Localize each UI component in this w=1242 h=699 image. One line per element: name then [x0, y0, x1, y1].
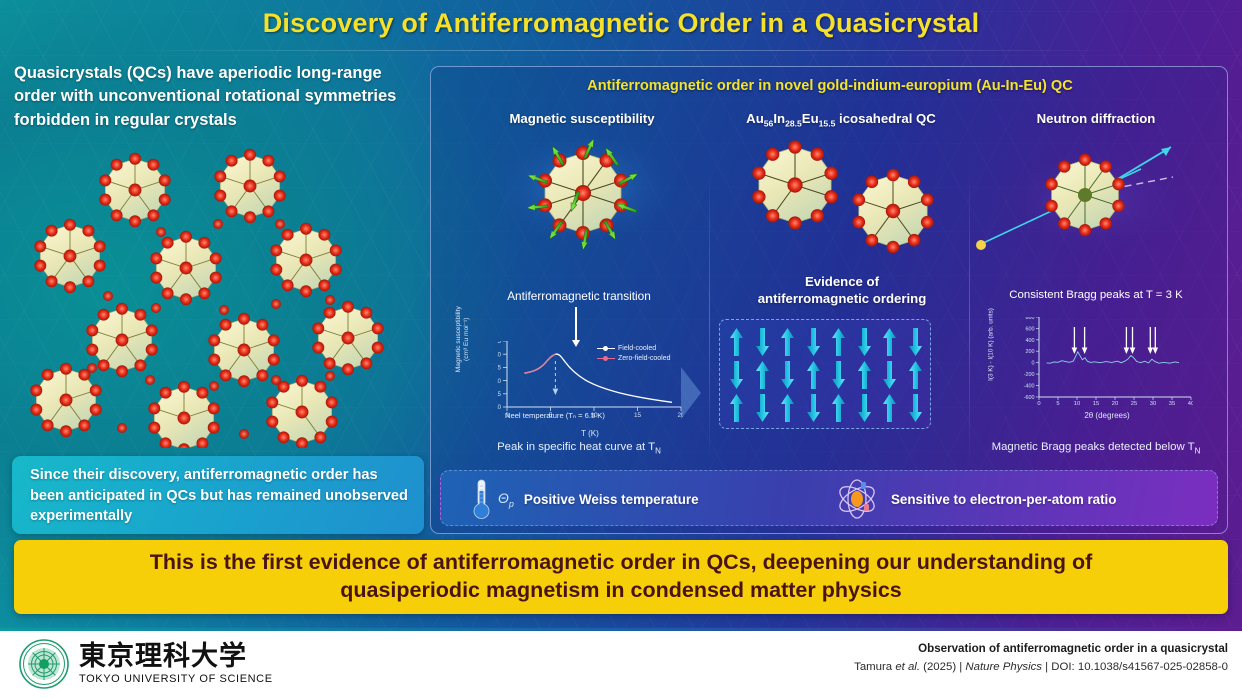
spin-arrow-up [903, 359, 929, 392]
university-name-en: TOKYO UNIVERSITY OF SCIENCE [79, 673, 273, 685]
spin-arrow-down [877, 359, 903, 392]
svg-text:600: 600 [1026, 326, 1035, 332]
spin-arrow-up [750, 359, 776, 392]
chart1-title: Antiferromagnetic transition [451, 289, 707, 303]
spin-arrow-down [801, 326, 827, 359]
svg-text:2.0: 2.0 [497, 352, 502, 358]
spin-arrow-up [877, 326, 903, 359]
legend-item-field-cooled: Field-cooled [597, 345, 671, 352]
svg-text:2.5: 2.5 [497, 341, 502, 345]
transition-arrow-icon [575, 307, 577, 341]
svg-text:0: 0 [1037, 401, 1040, 405]
callout-box: Since their discovery, antiferromagnetic… [12, 456, 424, 534]
svg-text:-400: -400 [1024, 384, 1035, 390]
svg-text:10: 10 [1074, 401, 1080, 405]
flow-chevron-icon [681, 367, 701, 419]
spin-arrow-up [775, 326, 801, 359]
formula-eu: Eu [802, 111, 819, 126]
thermometer-icon [469, 477, 495, 521]
chart2-caption: Magnetic Bragg peaks detected below TN [971, 441, 1221, 455]
spin-arrow-down [750, 391, 776, 424]
university-logo: 東京理科大学 TOKYO UNIVERSITY OF SCIENCE [18, 638, 273, 690]
chart1-y-axis-label: Magnetic susceptibility (cm³ Eu mol⁻¹) [455, 296, 471, 382]
formula-in: In [773, 111, 785, 126]
panel-divider-left [709, 167, 710, 467]
theta-p-symbol: Θp [498, 490, 514, 509]
university-name-jp: 東京理科大学 [79, 643, 273, 670]
svg-text:400: 400 [1026, 338, 1035, 344]
spin-arrow-down [852, 326, 878, 359]
citation-title: Observation of antiferromagnetic order i… [854, 642, 1228, 655]
atom-icon [833, 477, 881, 521]
svg-text:5: 5 [1056, 401, 1059, 405]
svg-text:15: 15 [634, 412, 642, 417]
title-divider [120, 50, 1122, 51]
chart-magnetic-susceptibility: Antiferromagnetic transition Magnetic su… [451, 289, 707, 449]
icosahedral-clusters-illustration [717, 133, 965, 259]
chart2-x-axis-label: 2θ (degrees) [1021, 411, 1193, 420]
conclusion-banner: This is the first evidence of antiferrom… [14, 540, 1228, 614]
spin-arrow-up [724, 326, 750, 359]
finding-weiss-temperature: Θp Positive Weiss temperature [469, 471, 699, 527]
citation: Observation of antiferromagnetic order i… [854, 642, 1228, 673]
citation-source: Tamura et al. (2025) | Nature Physics | … [854, 661, 1228, 673]
chart-neutron-diffraction: Consistent Bragg peaks at T = 3 K I(3 K)… [977, 289, 1225, 449]
spin-arrow-down [903, 391, 929, 424]
callout-text: Since their discovery, antiferromagnetic… [30, 465, 412, 527]
tus-seal-icon [18, 638, 70, 690]
neel-temperature-annotation: Neel temperature (Tₙ = 6.5 K) [505, 411, 605, 420]
column-title-composition: Au56In28.5Eu15.5 icosahedral QC [713, 111, 969, 129]
spin-arrow-down [826, 359, 852, 392]
formula-suffix: icosahedral QC [835, 111, 935, 126]
panel-header: Antiferromagnetic order in novel gold-in… [431, 78, 1229, 94]
chart2-plot: 800600400 2000-200 -400-600 0510 152025 … [1021, 317, 1193, 405]
column-title-neutron: Neutron diffraction [971, 111, 1221, 126]
panel-divider-right [969, 167, 970, 467]
spin-arrow-down [903, 326, 929, 359]
spin-arrow-up [826, 391, 852, 424]
evidence-heading: Evidence of antiferromagnetic ordering [717, 273, 967, 307]
svg-text:20: 20 [1112, 401, 1118, 405]
conclusion-text: This is the first evidence of antiferrom… [61, 549, 1181, 605]
legend-swatch-field-cooled [597, 348, 615, 349]
infographic-poster: Discovery of Antiferromagnetic Order in … [0, 0, 1242, 699]
legend-swatch-zero-field-cooled [597, 358, 615, 359]
svg-text:0.5: 0.5 [497, 392, 502, 398]
svg-text:-200: -200 [1024, 372, 1035, 378]
spin-arrow-up [724, 391, 750, 424]
svg-text:30: 30 [1150, 401, 1156, 405]
svg-text:200: 200 [1026, 349, 1035, 355]
formula-au-sub: 56 [764, 119, 774, 129]
svg-text:25: 25 [1131, 401, 1137, 405]
chart1-caption: Peak in specific heat curve at TN [451, 441, 707, 455]
svg-text:-600: -600 [1024, 395, 1035, 401]
svg-text:0: 0 [1032, 361, 1035, 367]
spin-arrow-up [826, 326, 852, 359]
svg-text:800: 800 [1026, 317, 1035, 321]
page-title: Discovery of Antiferromagnetic Order in … [0, 8, 1242, 39]
spin-arrow-up [852, 359, 878, 392]
spin-arrow-up [775, 391, 801, 424]
chart1-legend: Field-cooled Zero-field-cooled [597, 345, 671, 365]
finding-electron-per-atom: Sensitive to electron-per-atom ratio [833, 471, 1116, 527]
formula-eu-sub: 15.5 [819, 119, 836, 129]
svg-text:35: 35 [1169, 401, 1175, 405]
spin-arrow-down [775, 359, 801, 392]
spin-arrow-down [750, 326, 776, 359]
footer: 東京理科大学 TOKYO UNIVERSITY OF SCIENCE Obser… [0, 628, 1242, 699]
antiferromagnetic-spin-grid [719, 319, 931, 429]
chart2-title: Consistent Bragg peaks at T = 3 K [977, 289, 1215, 301]
footer-divider [0, 628, 1242, 631]
column-title-susceptibility: Magnetic susceptibility [453, 111, 711, 126]
quasicrystal-tiling-illustration [18, 128, 408, 448]
cluster-with-spins-illustration [461, 133, 705, 259]
svg-text:0.0: 0.0 [497, 405, 502, 411]
spin-arrow-down [852, 391, 878, 424]
finding-label-weiss: Positive Weiss temperature [524, 492, 699, 507]
svg-text:1.0: 1.0 [497, 379, 502, 385]
spin-arrow-down [801, 391, 827, 424]
neutron-scattering-illustration [973, 133, 1219, 259]
finding-label-electron: Sensitive to electron-per-atom ratio [891, 492, 1116, 507]
key-findings-strip: Θp Positive Weiss temperature Sensitive … [440, 470, 1218, 526]
legend-item-zero-field-cooled: Zero-field-cooled [597, 355, 671, 362]
spin-arrow-down [724, 359, 750, 392]
spin-arrow-up [801, 359, 827, 392]
svg-text:15: 15 [1093, 401, 1099, 405]
spin-arrow-grid [720, 320, 932, 430]
title-bar: Discovery of Antiferromagnetic Order in … [0, 0, 1242, 50]
chart2-y-axis-label: I(3 K) - I(10 K) (arb. units) [988, 297, 995, 393]
formula-in-sub: 28.5 [785, 119, 802, 129]
svg-text:40: 40 [1188, 401, 1193, 405]
chart1-x-axis-label: T (K) [497, 429, 683, 438]
intro-text: Quasicrystals (QCs) have aperiodic long-… [14, 62, 422, 132]
svg-text:1.5: 1.5 [497, 366, 502, 372]
main-panel: Antiferromagnetic order in novel gold-in… [430, 66, 1228, 534]
spin-arrow-up [877, 391, 903, 424]
formula-au: Au [746, 111, 764, 126]
